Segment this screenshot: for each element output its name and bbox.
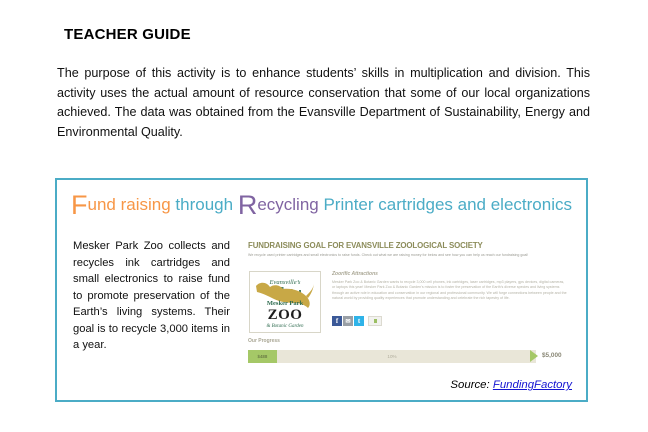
progress-bar-track: $488 10% [248,350,536,363]
progress-bar-fill: $488 [248,350,277,363]
capture-intro-text: We recycle used printer cartridges and s… [248,253,568,258]
svg-text:Mesker Park: Mesker Park [267,300,304,307]
headline-recycling: ecycling [257,195,318,214]
source-attribution: Source: FundingFactory [450,379,572,391]
headline-printer-cartridges: Printer cartridges and electronics [323,195,572,214]
fund-raising-headline: Fund raising through Recycling Printer c… [71,192,572,219]
zoorific-attractions-body: Mesker Park Zoo & Botanic Garden wants t… [332,280,568,301]
facebook-icon[interactable]: f [332,316,342,326]
zoo-logo-artwork: Evansville’s Mesker Park ZOO & Botanic G… [250,272,320,332]
headline-through: through [175,195,233,214]
fundingfactory-screenshot: FUNDRAISING GOAL FOR EVANSVILLE ZOOLOGIC… [242,234,575,376]
headline-fund-raising: und raising [88,195,171,214]
share-count-button[interactable] [368,316,382,326]
fundingfactory-link[interactable]: FundingFactory [493,379,572,391]
svg-text:Evansville’s: Evansville’s [269,279,301,286]
page-title: TEACHER GUIDE [64,26,191,43]
email-icon[interactable]: ✉ [343,316,353,326]
headline-dropcap-r: R [238,190,258,220]
share-count-bar-icon [374,319,377,323]
intro-paragraph: The purpose of this activity is to enhan… [57,64,590,142]
activity-panel: Fund raising through Recycling Printer c… [55,178,588,402]
progress-goal-amount: $5,000 [542,352,562,359]
social-share-row: f ✉ t [332,316,382,326]
progress-label: Our Progress [248,338,280,344]
svg-text:ZOO: ZOO [268,307,303,323]
svg-text:& Botanic Garden: & Botanic Garden [266,324,304,329]
progress-percent-label: 10% [248,350,536,363]
source-prefix: Source: [450,379,489,391]
panel-body: Mesker Park Zoo collects and recycles in… [57,238,586,378]
capture-heading: FUNDRAISING GOAL FOR EVANSVILLE ZOOLOGIC… [248,240,483,250]
zoorific-attractions-heading: Zoorific Attractions [332,271,378,277]
zoo-description-text: Mesker Park Zoo collects and recycles in… [73,238,230,354]
twitter-icon[interactable]: t [354,316,364,326]
progress-arrow-icon [530,350,538,362]
mesker-park-zoo-logo: Evansville’s Mesker Park ZOO & Botanic G… [249,271,321,333]
headline-dropcap-f: F [71,190,88,220]
progress-raised-amount: $488 [258,354,268,359]
